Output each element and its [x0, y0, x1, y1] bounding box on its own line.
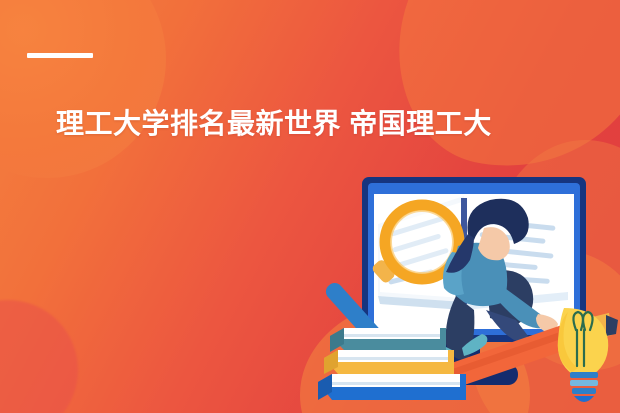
student-research-illustration: [318, 168, 620, 413]
promo-banner: 理工大学排名最新世界 帝国理工大: [0, 0, 620, 413]
accent-rule: [27, 53, 93, 58]
book-stack-icon: [318, 328, 466, 400]
banner-headline: 理工大学排名最新世界 帝国理工大: [56, 105, 620, 143]
